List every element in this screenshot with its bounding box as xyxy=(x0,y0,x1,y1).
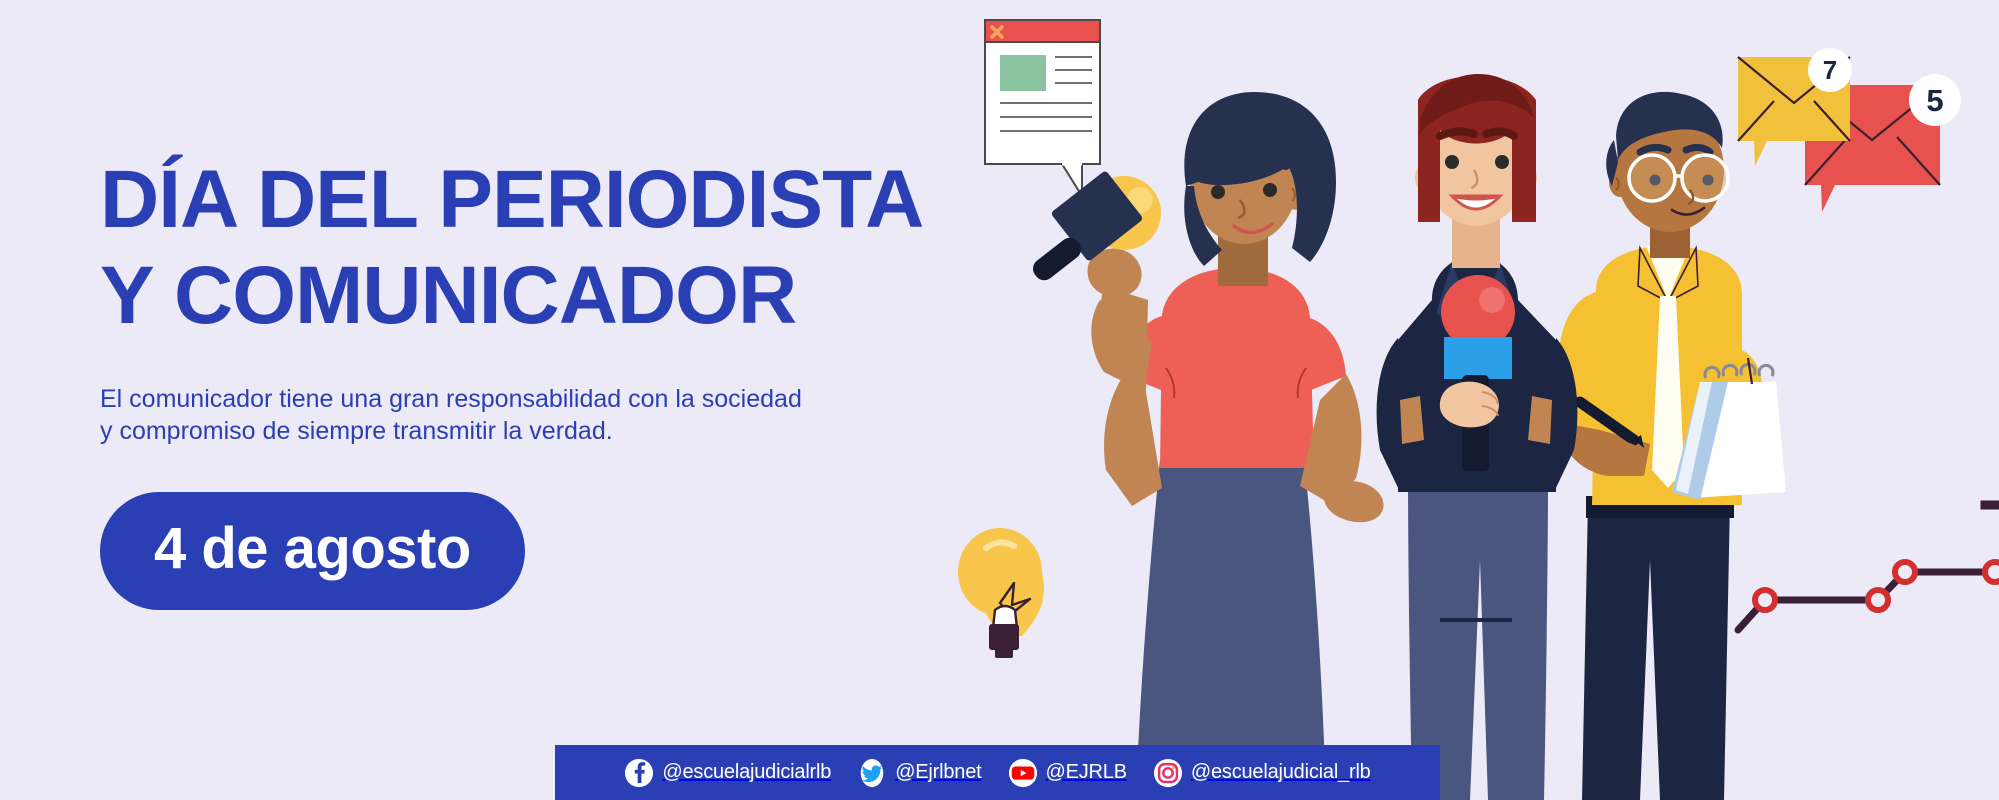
facebook-handle: @escuelajudicialrlb xyxy=(662,761,831,784)
date-badge[interactable]: 4 de agosto xyxy=(100,492,525,610)
subtitle-line-2: y compromiso de siempre transmitir la ve… xyxy=(100,417,613,445)
youtube-icon xyxy=(1008,758,1038,788)
reporter-woman-coral-graphic xyxy=(1029,92,1384,800)
twitter-icon xyxy=(857,758,887,788)
social-media-bar: @escuelajudicialrlb @Ejrlbnet @EJRLB xyxy=(555,745,1440,800)
page-title: DÍA DEL PERIODISTA Y COMUNICADOR xyxy=(100,160,1060,337)
subtitle-line-1: El comunicador tiene una gran responsabi… xyxy=(100,385,802,413)
badge-5: 5 xyxy=(1909,74,1961,126)
social-link-instagram[interactable]: @escuelajudicial_rlb xyxy=(1153,758,1371,788)
poster-canvas: 7 5 xyxy=(0,0,1999,800)
headline-block: DÍA DEL PERIODISTA Y COMUNICADOR El comu… xyxy=(100,160,1060,610)
svg-text:5: 5 xyxy=(1926,83,1943,118)
social-link-twitter[interactable]: @Ejrlbnet xyxy=(857,758,981,788)
headline-line-2: Y COMUNICADOR xyxy=(100,256,1060,336)
growth-arrow-chart-graphic xyxy=(1738,505,1999,630)
headline-line-1: DÍA DEL PERIODISTA xyxy=(100,154,923,245)
instagram-icon xyxy=(1153,758,1183,788)
youtube-handle: @EJRLB xyxy=(1046,761,1127,784)
social-link-youtube[interactable]: @EJRLB xyxy=(1008,758,1127,788)
twitter-handle: @Ejrlbnet xyxy=(895,761,981,784)
subtitle-text: El comunicador tiene una gran responsabi… xyxy=(100,383,1000,448)
social-link-facebook[interactable]: @escuelajudicialrlb xyxy=(624,758,831,788)
reporter-woman-blazer-graphic xyxy=(1377,74,1578,800)
instagram-handle: @escuelajudicial_rlb xyxy=(1191,761,1371,784)
facebook-icon xyxy=(624,758,654,788)
journalist-man-yellow-graphic xyxy=(1558,92,1786,800)
badge-7: 7 xyxy=(1808,48,1852,92)
svg-text:7: 7 xyxy=(1823,55,1837,85)
